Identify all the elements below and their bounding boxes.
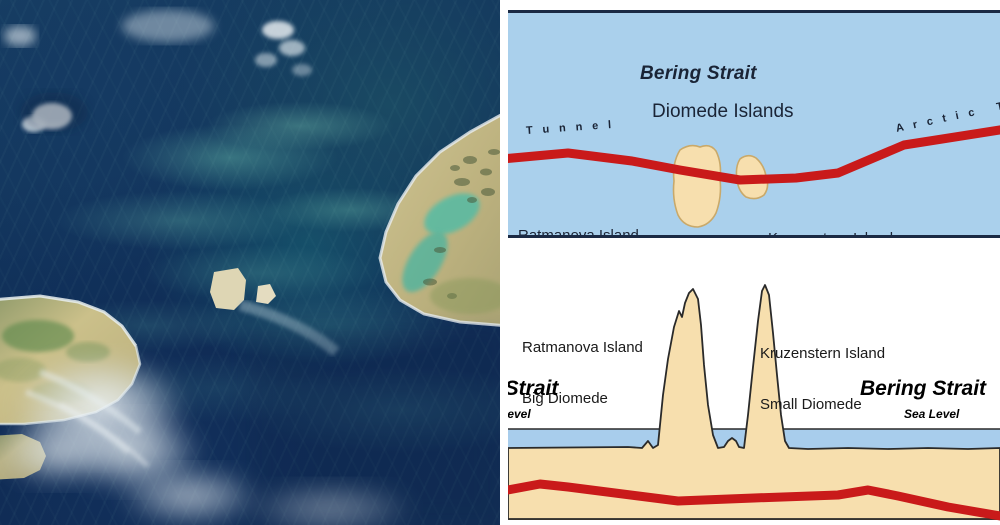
section-label-big-diomede: Ratmanova Island Big Diomede xyxy=(522,305,643,441)
section-strait-label-right: Bering Strait xyxy=(860,377,986,401)
cross-section-panel: Ratmanova Island Big Diomede Kruzenstern… xyxy=(508,255,1000,525)
satellite-features xyxy=(0,0,500,525)
satellite-photo xyxy=(0,0,500,525)
bering-strait-infographic: Bering Strait Diomede Islands T u n n e … xyxy=(0,0,1000,525)
plan-title: Bering Strait xyxy=(640,63,757,85)
plan-label-big-diomede: Ratmanova Island Big Diomede xyxy=(518,193,639,238)
seward-peninsula-landmass xyxy=(380,110,500,326)
plan-label-small-diomede: Kruzenstern Island Small Diomede xyxy=(768,196,893,238)
section-strait-label-left: g Strait xyxy=(508,377,558,401)
section-label-big-diomede-line1: Ratmanova Island xyxy=(522,339,643,356)
little-diomede-island xyxy=(256,284,276,304)
big-diomede-plan-shape xyxy=(674,146,721,227)
tunnel-diagrams: Bering Strait Diomede Islands T u n n e … xyxy=(500,0,1000,525)
plan-label-small-diomede-line1: Kruzenstern Island xyxy=(768,230,893,238)
section-label-small-diomede-line1: Kruzenstern Island xyxy=(760,345,885,362)
plan-view-panel: Bering Strait Diomede Islands T u n n e … xyxy=(508,10,1000,238)
plan-subtitle: Diomede Islands xyxy=(652,101,794,123)
plan-label-big-diomede-line1: Ratmanova Island xyxy=(518,227,639,238)
section-sea-level-label-right: Sea Level xyxy=(904,407,959,421)
section-sea-level-label-left: Level xyxy=(508,407,531,421)
